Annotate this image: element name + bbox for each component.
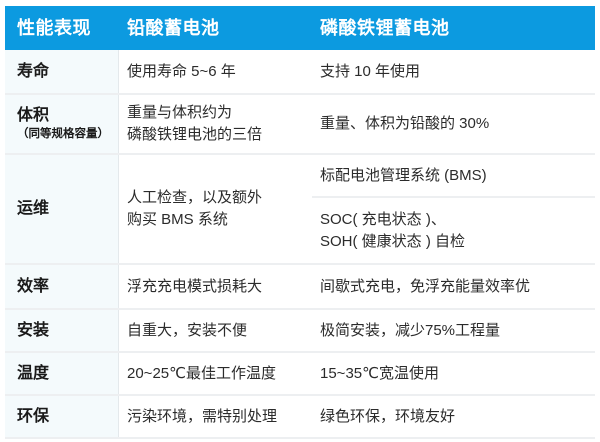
cell-line: SOC( 充电状态 )、 [320, 209, 587, 231]
row-label: 效率 [17, 277, 110, 296]
table-row: 温度 20~25℃最佳工作温度 15~35℃宽温使用 [5, 353, 595, 396]
cell-line: 污染环境，需特别处理 [127, 406, 304, 428]
table-row: 环保 污染环境，需特别处理 绿色环保，环境友好 [5, 396, 595, 439]
row-label: 安装 [17, 321, 110, 340]
row-label: 环保 [17, 407, 110, 426]
table-row: 体积 （同等规格容量） 重量与体积约为 磷酸铁锂电池的三倍 重量、体积为铅酸的 … [5, 95, 595, 155]
lead-acid-cell: 重量与体积约为 磷酸铁锂电池的三倍 [119, 95, 312, 153]
row-label-cell: 寿命 [5, 50, 119, 93]
row-label-cell: 体积 （同等规格容量） [5, 95, 119, 153]
cell-line: 自重大，安装不便 [127, 320, 304, 342]
header-cell-lifepo4: 磷酸铁锂蓄电池 [312, 19, 595, 37]
cell-line: SOH( 健康状态 ) 自检 [320, 231, 587, 253]
table-header-row: 性能表现 铅酸蓄电池 磷酸铁锂蓄电池 [5, 6, 595, 50]
lead-acid-cell: 人工检查，以及额外 购买 BMS 系统 [119, 155, 312, 263]
lifepo4-cell: 绿色环保，环境友好 [312, 396, 595, 437]
cell-line: 间歇式充电，免浮充能量效率优 [320, 276, 587, 298]
table-row: 寿命 使用寿命 5~6 年 支持 10 年使用 [5, 50, 595, 95]
row-label-cell: 温度 [5, 353, 119, 394]
row-sublabel: （同等规格容量） [17, 127, 110, 142]
row-label: 体积 [17, 106, 110, 125]
cell-line: 支持 10 年使用 [320, 61, 587, 83]
lifepo4-cell: 间歇式充电，免浮充能量效率优 [312, 265, 595, 308]
lead-acid-cell: 自重大，安装不便 [119, 310, 312, 351]
table-row: 安装 自重大，安装不便 极简安装，减少75%工程量 [5, 310, 595, 353]
lifepo4-cell: 极简安装，减少75%工程量 [312, 310, 595, 351]
lifepo4-cell: 标配电池管理系统 (BMS) SOC( 充电状态 )、 SOH( 健康状态 ) … [312, 155, 595, 263]
table-body: 寿命 使用寿命 5~6 年 支持 10 年使用 体积 （同等规格容量） 重量与体… [5, 50, 595, 439]
table-row: 效率 浮充充电模式损耗大 间歇式充电，免浮充能量效率优 [5, 265, 595, 310]
lifepo4-subcell-bms: 标配电池管理系统 (BMS) [312, 155, 595, 198]
lifepo4-cell: 重量、体积为铅酸的 30% [312, 95, 595, 153]
lead-acid-cell: 20~25℃最佳工作温度 [119, 353, 312, 394]
cell-line: 20~25℃最佳工作温度 [127, 363, 304, 385]
cell-line: 标配电池管理系统 (BMS) [320, 165, 587, 187]
row-label: 寿命 [17, 62, 110, 81]
lifepo4-cell: 支持 10 年使用 [312, 50, 595, 93]
cell-line: 购买 BMS 系统 [127, 209, 304, 231]
row-label-cell: 安装 [5, 310, 119, 351]
cell-line: 绿色环保，环境友好 [320, 406, 587, 428]
cell-line: 使用寿命 5~6 年 [127, 61, 304, 83]
table-row: 运维 人工检查，以及额外 购买 BMS 系统 标配电池管理系统 (BMS) SO… [5, 155, 595, 265]
battery-comparison-table: 性能表现 铅酸蓄电池 磷酸铁锂蓄电池 寿命 使用寿命 5~6 年 支持 10 年… [0, 0, 600, 442]
lead-acid-cell: 浮充充电模式损耗大 [119, 265, 312, 308]
cell-line: 极简安装，减少75%工程量 [320, 320, 587, 342]
cell-line: 人工检查，以及额外 [127, 187, 304, 209]
row-label: 温度 [17, 364, 110, 383]
cell-line: 重量、体积为铅酸的 30% [320, 113, 587, 135]
header-cell-performance: 性能表现 [5, 19, 119, 37]
row-label-cell: 环保 [5, 396, 119, 437]
row-label-cell: 运维 [5, 155, 119, 263]
row-label: 运维 [17, 199, 110, 218]
cell-line: 重量与体积约为 [127, 102, 304, 124]
lead-acid-cell: 使用寿命 5~6 年 [119, 50, 312, 93]
lead-acid-cell: 污染环境，需特别处理 [119, 396, 312, 437]
cell-line: 磷酸铁锂电池的三倍 [127, 124, 304, 146]
lifepo4-cell: 15~35℃宽温使用 [312, 353, 595, 394]
cell-line: 15~35℃宽温使用 [320, 363, 587, 385]
cell-line: 浮充充电模式损耗大 [127, 276, 304, 298]
row-label-cell: 效率 [5, 265, 119, 308]
header-cell-lead-acid: 铅酸蓄电池 [119, 19, 312, 37]
lifepo4-subcell-soc-soh: SOC( 充电状态 )、 SOH( 健康状态 ) 自检 [312, 198, 595, 263]
